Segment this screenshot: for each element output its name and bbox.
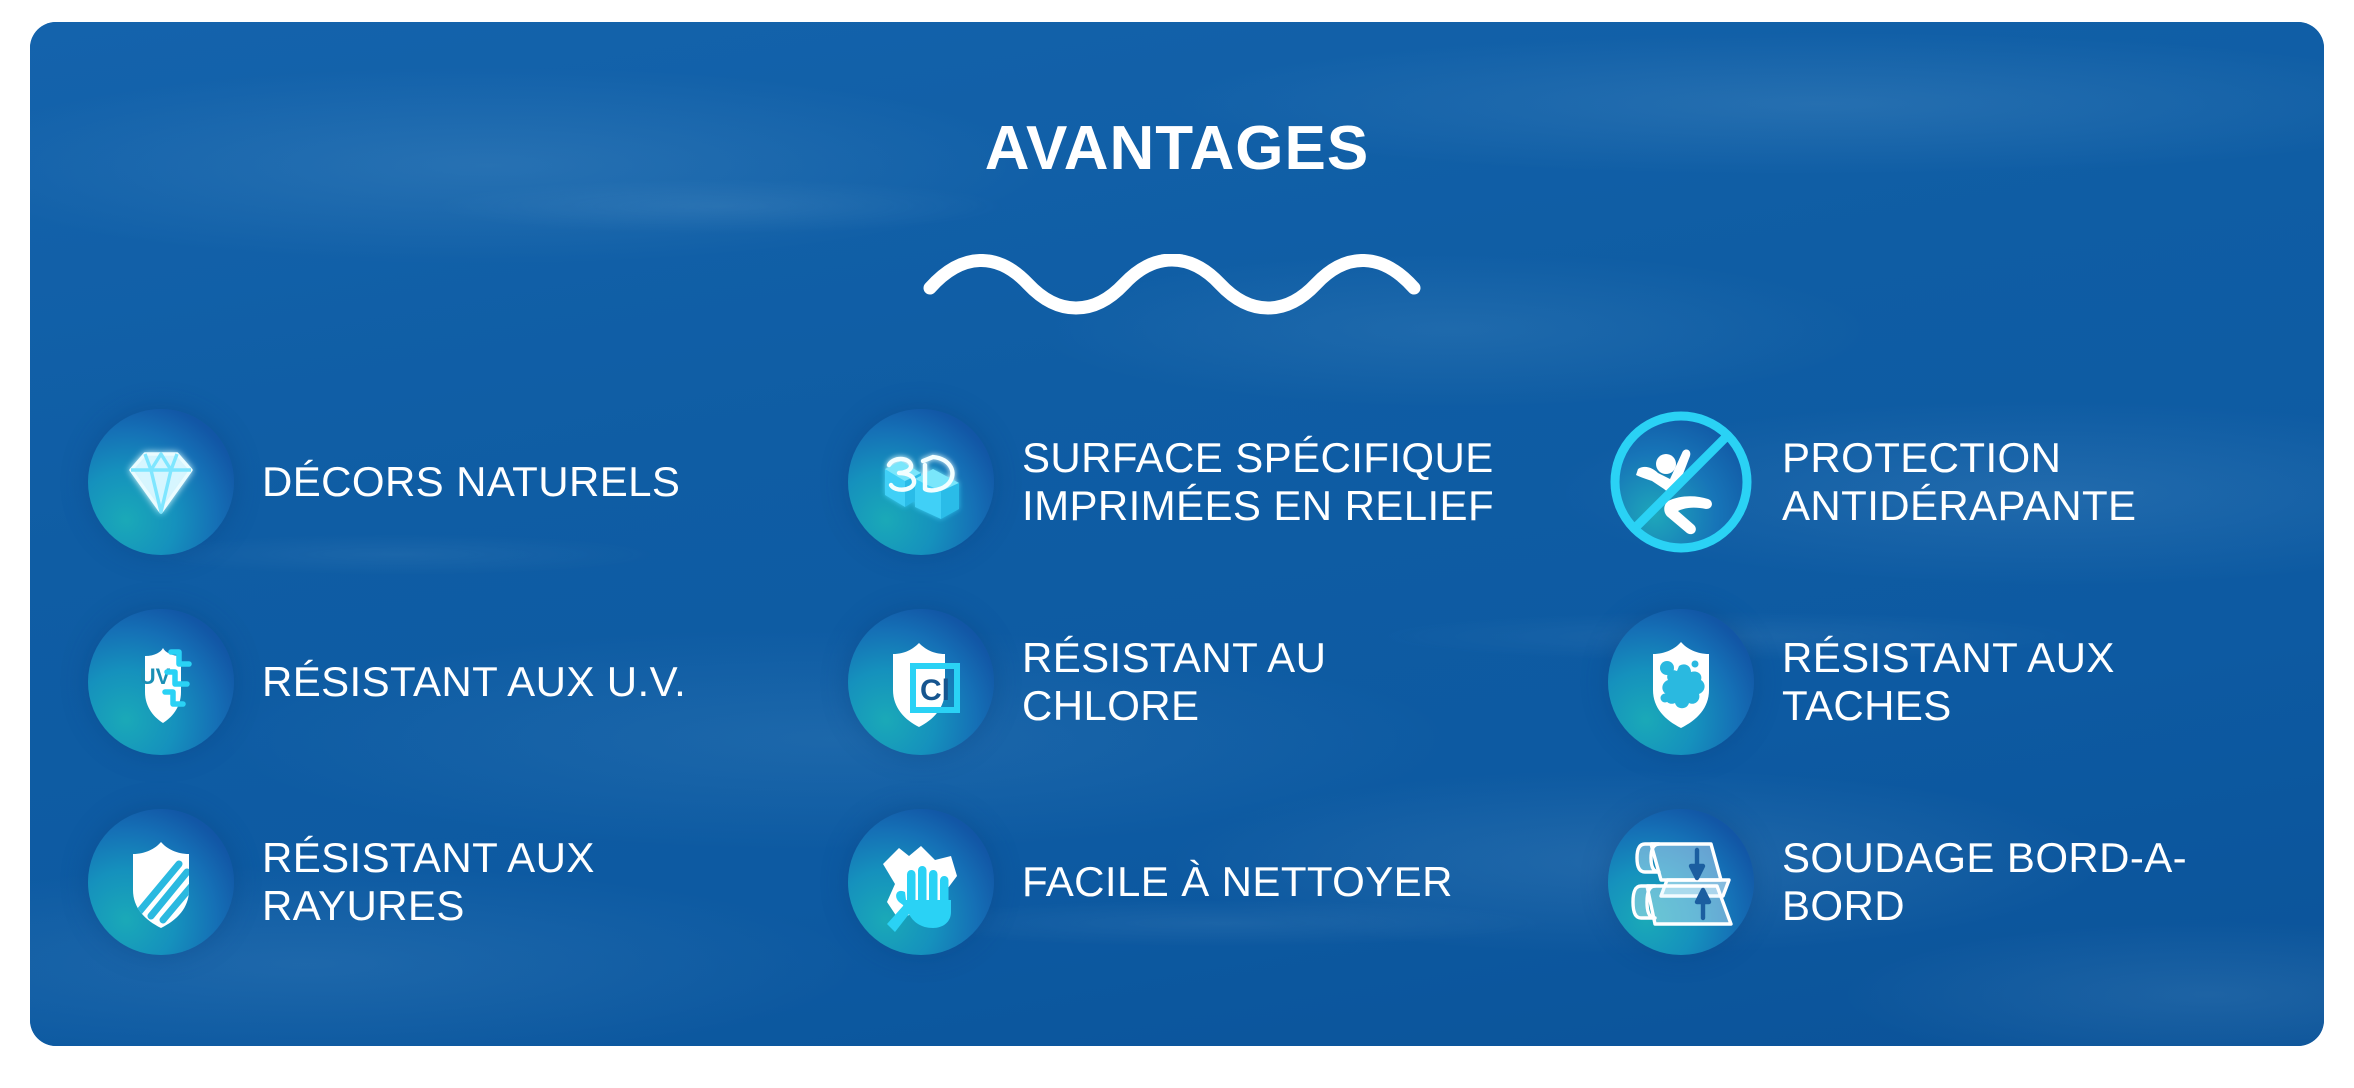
feature-label: DÉCORS NATURELS xyxy=(262,458,680,506)
diamond-icon xyxy=(88,409,234,555)
scratch-shield-icon xyxy=(88,809,234,955)
no-slip-icon xyxy=(1608,409,1754,555)
svg-text:Cl: Cl xyxy=(920,674,950,707)
advantages-card: AVANTAGES xyxy=(30,22,2324,1046)
feature-item-soudage-bord-a-bord[interactable]: SOUDAGE BORD-A- BORD xyxy=(1608,782,2324,982)
3d-relief-icon xyxy=(848,409,994,555)
page-title: AVANTAGES xyxy=(30,118,2324,180)
stain-shield-icon xyxy=(1608,609,1754,755)
feature-label: PROTECTION ANTIDÉRAPANTE xyxy=(1782,434,2136,530)
feature-item-resistant-chlore[interactable]: Cl RÉSISTANT AU CHLORE xyxy=(848,582,1608,782)
feature-label: SOUDAGE BORD-A- BORD xyxy=(1782,834,2187,930)
feature-item-facile-a-nettoyer[interactable]: FACILE À NETTOYER xyxy=(848,782,1608,982)
svg-text:UV: UV xyxy=(140,664,171,689)
feature-item-resistant-rayures[interactable]: RÉSISTANT AUX RAYURES xyxy=(88,782,848,982)
uv-shield-icon: UV xyxy=(88,609,234,755)
feature-label: RÉSISTANT AUX TACHES xyxy=(1782,634,2115,730)
feature-label: RÉSISTANT AU CHLORE xyxy=(1022,634,1326,730)
feature-item-surface-specifique[interactable]: SURFACE SPÉCIFIQUE IMPRIMÉES EN RELIEF xyxy=(848,382,1608,582)
feature-item-protection-antiderapante[interactable]: PROTECTION ANTIDÉRAPANTE xyxy=(1608,382,2324,582)
feature-item-resistant-taches[interactable]: RÉSISTANT AUX TACHES xyxy=(1608,582,2324,782)
cleaning-hand-icon xyxy=(848,809,994,955)
card-content: AVANTAGES xyxy=(30,22,2324,1046)
feature-label: FACILE À NETTOYER xyxy=(1022,858,1453,906)
feature-label: RÉSISTANT AUX RAYURES xyxy=(262,834,595,930)
wave-divider-icon xyxy=(922,254,1432,318)
feature-label: SURFACE SPÉCIFIQUE IMPRIMÉES EN RELIEF xyxy=(1022,434,1494,530)
feature-item-decors-naturels[interactable]: DÉCORS NATURELS xyxy=(88,382,848,582)
feature-item-resistant-uv[interactable]: UV RÉSISTANT AUX U.V. xyxy=(88,582,848,782)
feature-label: RÉSISTANT AUX U.V. xyxy=(262,658,686,706)
chlorine-shield-icon: Cl xyxy=(848,609,994,755)
features-grid: DÉCORS NATURELS xyxy=(88,382,2324,982)
edge-welding-icon xyxy=(1608,809,1754,955)
